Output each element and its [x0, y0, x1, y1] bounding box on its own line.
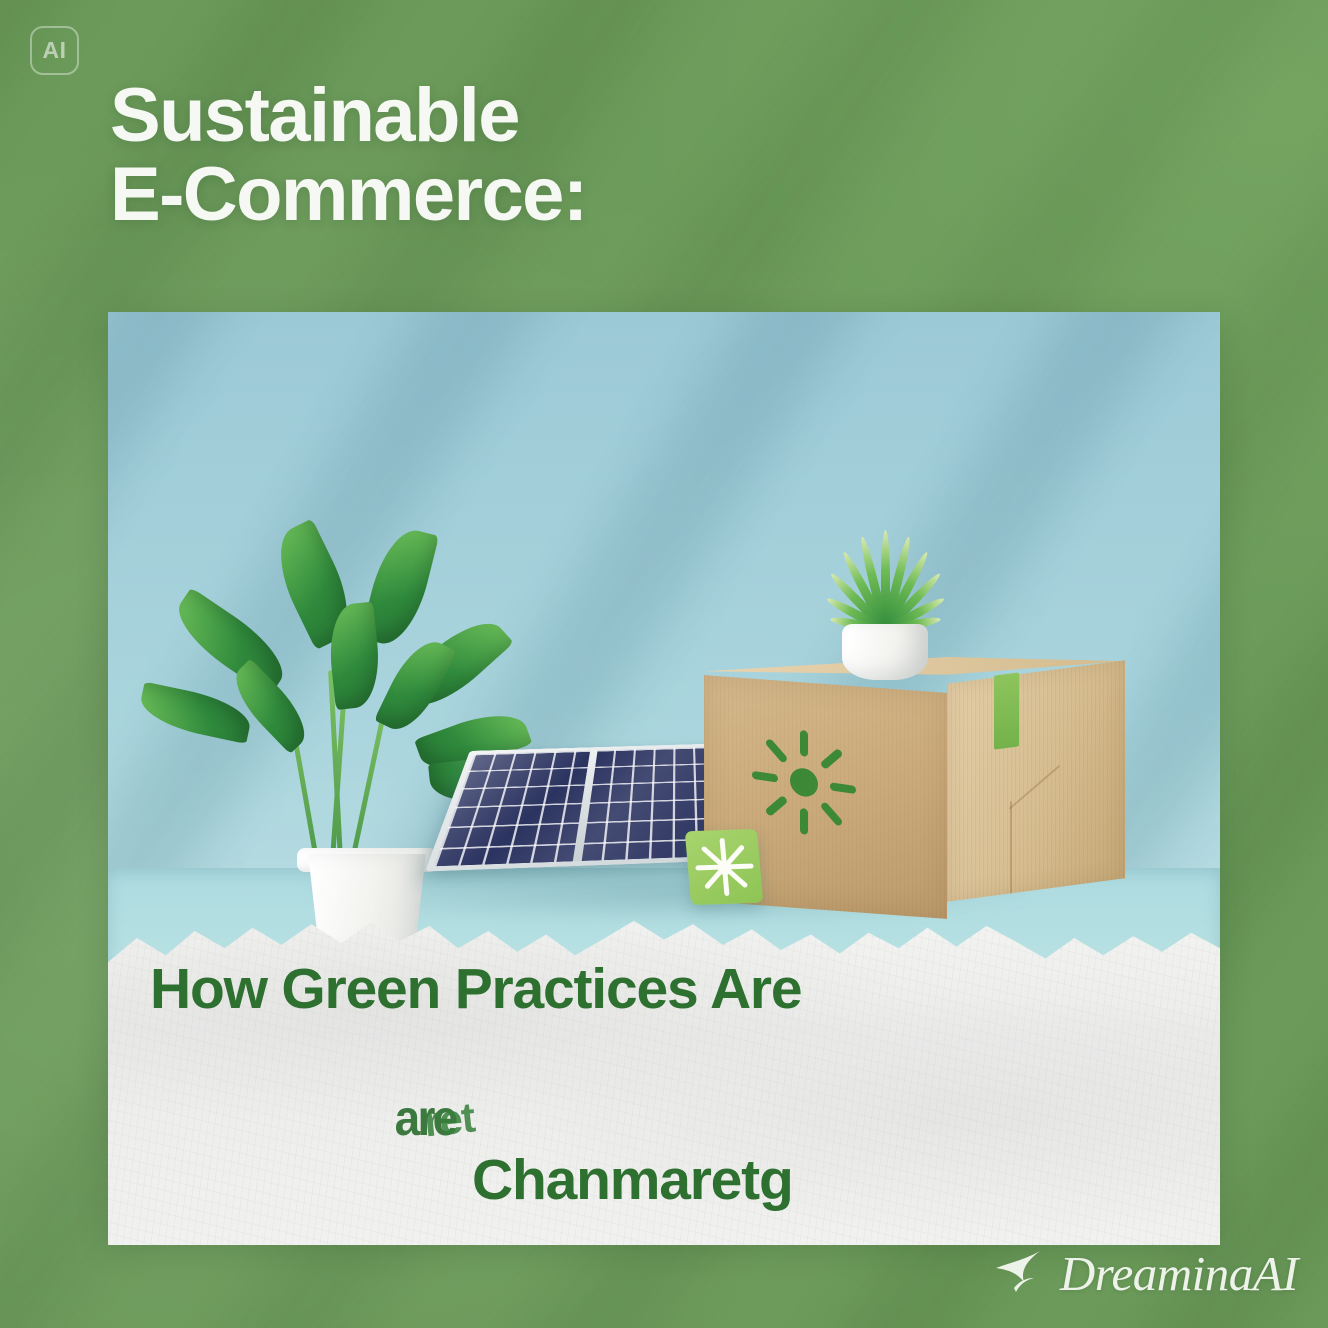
watermark-text: DreaminaAI [1060, 1245, 1298, 1302]
succulent-plant [820, 528, 950, 678]
green-eco-card [685, 829, 764, 905]
subtitle-ghost-glyph-2: ret [422, 1093, 477, 1145]
starburst-icon [685, 829, 764, 905]
ai-badge: AI [30, 26, 79, 75]
page-title-line-2: E-Commerce: [110, 155, 1010, 234]
solar-panel [425, 744, 725, 872]
box-green-tape [994, 672, 1019, 749]
subtitle: How Green Practices Are Chanmaretg are r… [150, 958, 1196, 1245]
subtitle-garbled-text: Chanmaretg are ret [296, 1086, 792, 1245]
cardboard-shipping-box [704, 670, 1124, 920]
sparkle-icon [994, 1248, 1050, 1300]
box-flap-crease [1010, 794, 1064, 893]
ai-badge-label: AI [43, 37, 67, 64]
subtitle-line-2: Chanmaretg are ret rte Changing [150, 1022, 1196, 1245]
page-title: Sustainable E-Commerce: [110, 76, 1010, 234]
subtitle-line-2-part-1: Chanmaretg [472, 1148, 793, 1212]
hero-image-card: How Green Practices Are Chanmaretg are r… [108, 312, 1220, 1245]
poster-canvas: AI Sustainable E-Commerce: [0, 0, 1328, 1328]
subtitle-line-1: How Green Practices Are [150, 958, 1196, 1022]
succulent-pot [842, 624, 928, 680]
page-title-line-1: Sustainable [110, 76, 1010, 155]
watermark: DreaminaAI [994, 1245, 1298, 1302]
sun-icon [748, 718, 860, 846]
